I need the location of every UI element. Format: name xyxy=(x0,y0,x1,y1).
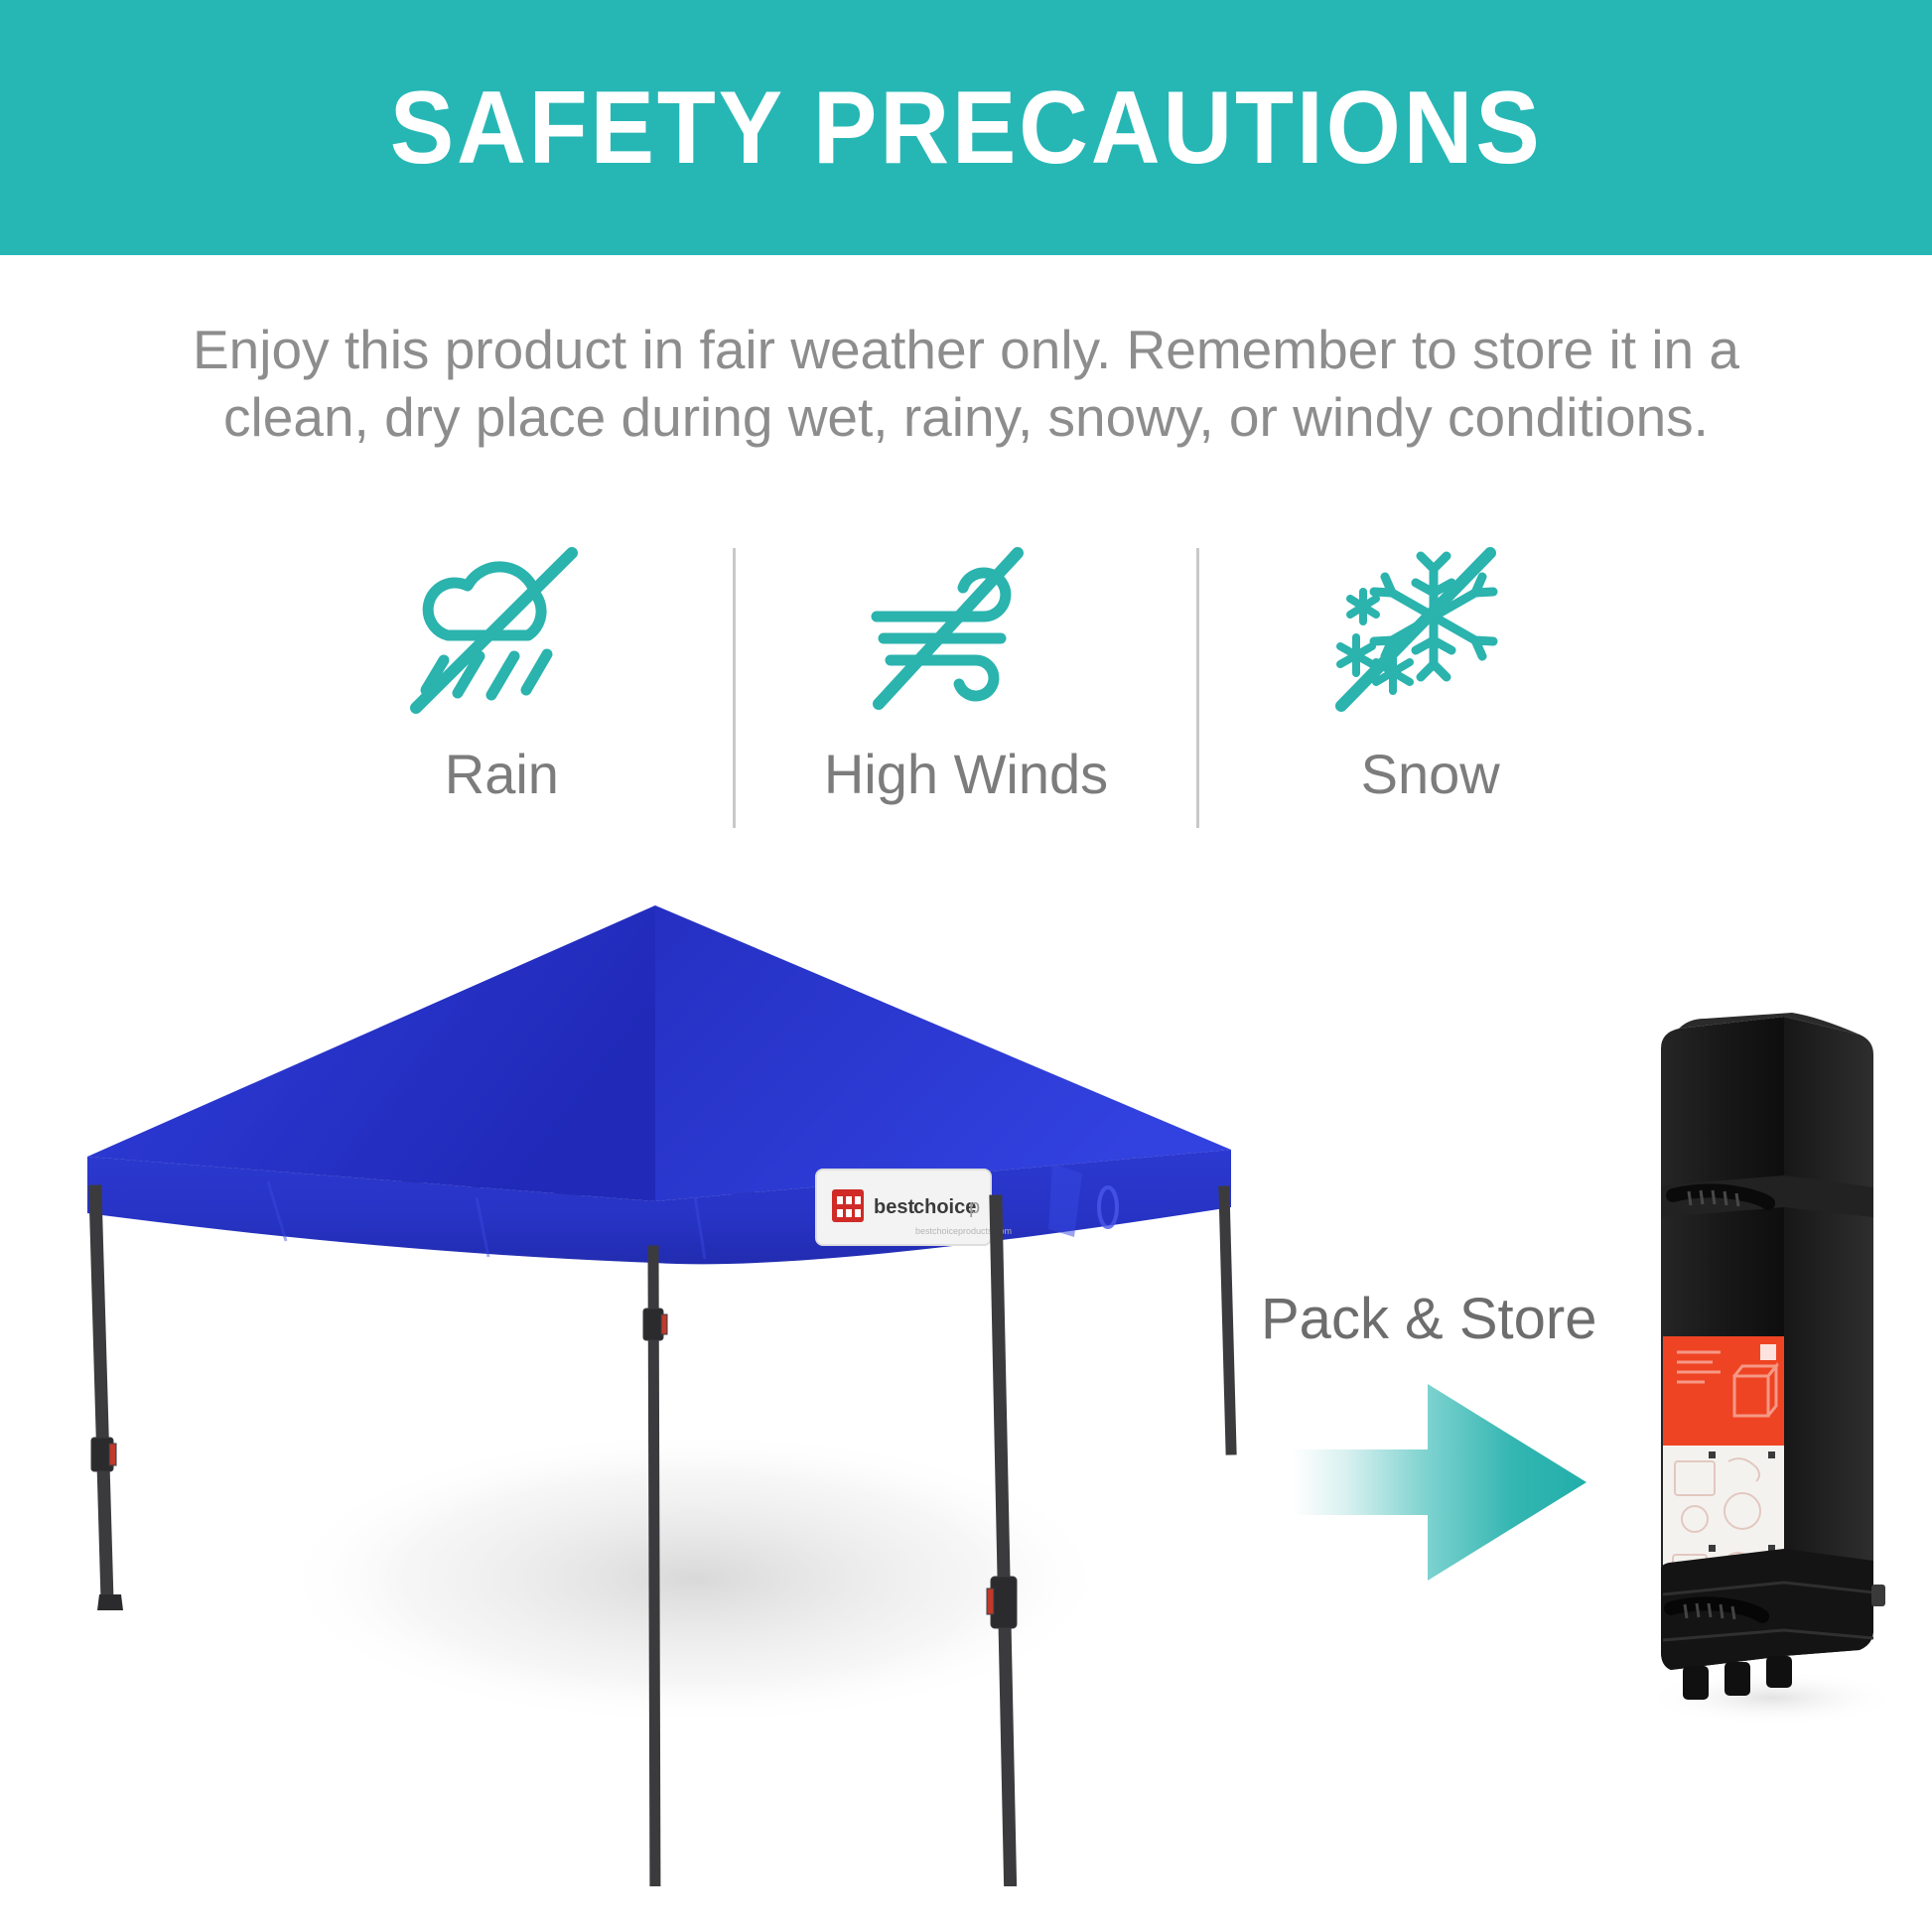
condition-item-rain: Rain xyxy=(271,536,733,854)
condition-label-snow: Snow xyxy=(1361,742,1500,806)
ground-shadow xyxy=(278,1430,1112,1727)
weather-conditions-row: Rain High Winds xyxy=(271,536,1661,854)
svg-text:choice: choice xyxy=(913,1196,976,1218)
svg-text:best: best xyxy=(874,1196,914,1218)
pack-store-label: Pack & Store xyxy=(1261,1286,1618,1352)
condition-item-high-winds: High Winds xyxy=(736,536,1197,854)
wind-no-symbol-icon xyxy=(867,536,1065,720)
product-illustration-area: best choice p bestchoiceproducts.com xyxy=(0,894,1932,1932)
header-banner: SAFETY PRECAUTIONS xyxy=(0,0,1932,255)
subtitle-text: Enjoy this product in fair weather only.… xyxy=(0,316,1932,451)
snow-no-symbol-icon xyxy=(1331,536,1530,720)
condition-label-high-winds: High Winds xyxy=(824,742,1108,806)
page-title: SAFETY PRECAUTIONS xyxy=(390,76,1543,180)
subtitle-line-1: Enjoy this product in fair weather only.… xyxy=(0,316,1932,383)
canopy-top-right xyxy=(655,905,1231,1201)
canopy-top-left xyxy=(87,905,655,1201)
rain-no-symbol-icon xyxy=(402,536,601,720)
condition-item-snow: Snow xyxy=(1199,536,1661,854)
brand-logo-tag: best choice p bestchoiceproducts.com xyxy=(816,1170,1012,1245)
pop-up-canopy-tent: best choice p bestchoiceproducts.com xyxy=(60,894,1251,1886)
rolling-carry-bag xyxy=(1643,1013,1901,1727)
subtitle-line-2: clean, dry place during wet, rainy, snow… xyxy=(0,383,1932,451)
svg-text:p: p xyxy=(969,1196,980,1218)
condition-label-rain: Rain xyxy=(445,742,559,806)
pack-store-arrow-icon xyxy=(1289,1378,1626,1587)
